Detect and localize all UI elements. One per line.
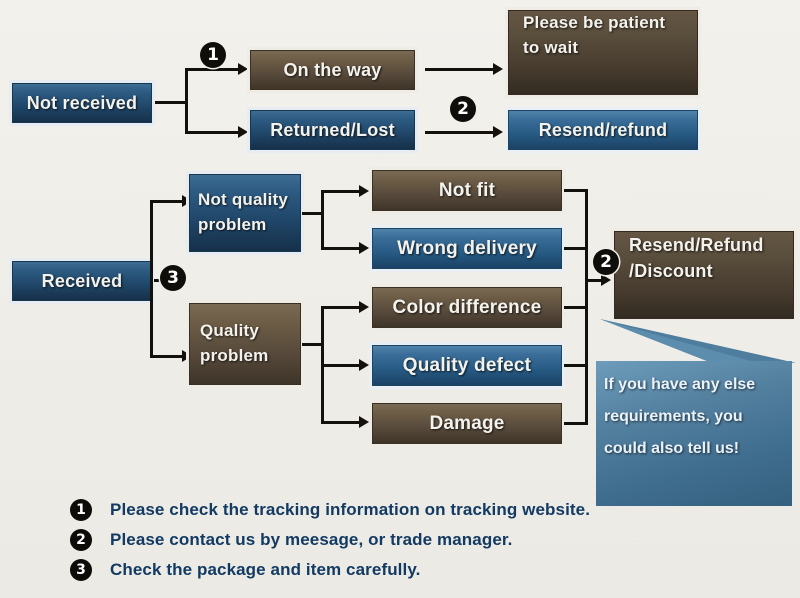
- node-not-quality-problem[interactable]: Not quality problem: [189, 174, 301, 252]
- badge-two-bottom: 2: [593, 249, 619, 275]
- speech-bubble-line2: requirements, you: [604, 408, 743, 425]
- connector-to-not-quality: [150, 200, 184, 203]
- arrow-to-not-fit: [359, 185, 369, 197]
- speech-bubble-body: If you have any else requirements, you c…: [596, 361, 792, 506]
- connector-returned-to-resend: [425, 131, 495, 134]
- flowchart-canvas: Not received 1 On the way Returned/Lost …: [0, 0, 800, 598]
- node-wrong-delivery-label: Wrong delivery: [397, 235, 537, 263]
- node-quality-defect[interactable]: Quality defect: [372, 345, 562, 386]
- legend-text-three: Check the package and item carefully.: [110, 560, 420, 580]
- node-received[interactable]: Received: [12, 261, 152, 301]
- legend-badge-one-label: 1: [76, 502, 86, 518]
- badge-three-label: 3: [167, 268, 179, 288]
- connector-to-not-fit: [321, 190, 361, 193]
- arrow-to-please-be-patient: [493, 63, 503, 75]
- connector-to-quality: [150, 355, 184, 358]
- legend-badge-three-label: 3: [76, 562, 86, 578]
- node-on-the-way[interactable]: On the way: [250, 50, 415, 90]
- arrow-to-returned-lost: [238, 126, 248, 138]
- speech-bubble: If you have any else requirements, you c…: [596, 319, 796, 485]
- node-on-the-way-label: On the way: [283, 57, 381, 83]
- node-not-quality-problem-line2: problem: [198, 213, 266, 238]
- badge-three: 3: [160, 265, 186, 291]
- connector-to-returned-lost: [185, 131, 240, 134]
- speech-bubble-line3: could also tell us!: [604, 440, 739, 457]
- badge-two-top-label: 2: [457, 99, 469, 119]
- node-returned-lost-label: Returned/Lost: [270, 117, 395, 143]
- connector-on-the-way-to-patient: [425, 68, 495, 71]
- node-quality-problem[interactable]: Quality problem: [189, 303, 301, 385]
- arrow-to-resend-refund-discount: [601, 274, 611, 286]
- connector-to-on-the-way: [185, 68, 240, 71]
- legend-badge-three: 3: [70, 559, 92, 581]
- node-resend-refund-label: Resend/refund: [539, 117, 668, 143]
- node-resend-refund-discount-line2: /Discount: [629, 258, 793, 284]
- badge-two-bottom-label: 2: [600, 252, 612, 272]
- node-damage[interactable]: Damage: [372, 403, 562, 444]
- node-quality-problem-line2: problem: [200, 344, 268, 369]
- node-not-quality-problem-line1: Not quality: [198, 188, 288, 213]
- legend-row: 3 Check the package and item carefully.: [70, 555, 790, 585]
- badge-one-top-label: 1: [207, 45, 219, 65]
- arrow-to-damage: [359, 416, 369, 428]
- arrow-to-on-the-way: [238, 63, 248, 75]
- connector-to-color-difference: [321, 306, 361, 309]
- connector-to-damage: [321, 421, 361, 424]
- legend-badge-two: 2: [70, 529, 92, 551]
- connector-not-received-split: [185, 68, 188, 134]
- connector-merge-bus: [585, 189, 588, 425]
- node-damage-label: Damage: [429, 410, 504, 438]
- speech-bubble-line1: If you have any else: [604, 376, 755, 393]
- legend-text-two: Please contact us by meesage, or trade m…: [110, 530, 513, 550]
- arrow-to-quality-defect: [359, 359, 369, 371]
- connector-to-wrong-delivery: [321, 247, 361, 250]
- node-please-be-patient-line1: Please be patient: [523, 11, 697, 36]
- connector-not-quality-split: [321, 190, 324, 250]
- node-not-received[interactable]: Not received: [12, 83, 152, 123]
- connector-not-received-out: [155, 101, 187, 104]
- node-received-label: Received: [42, 268, 123, 294]
- node-color-difference[interactable]: Color difference: [372, 287, 562, 328]
- legend-row: 1 Please check the tracking information …: [70, 495, 790, 525]
- node-quality-problem-line1: Quality: [200, 319, 259, 344]
- badge-two-top: 2: [450, 96, 476, 122]
- legend-row: 2 Please contact us by meesage, or trade…: [70, 525, 790, 555]
- legend: 1 Please check the tracking information …: [70, 495, 790, 585]
- node-resend-refund[interactable]: Resend/refund: [508, 110, 698, 150]
- node-not-fit[interactable]: Not fit: [372, 170, 562, 211]
- node-please-be-patient[interactable]: Please be patient to wait: [508, 10, 698, 95]
- arrow-to-color-difference: [359, 301, 369, 313]
- node-returned-lost[interactable]: Returned/Lost: [250, 110, 415, 150]
- node-not-received-label: Not received: [27, 90, 137, 116]
- node-color-difference-label: Color difference: [393, 294, 542, 322]
- node-resend-refund-discount-line1: Resend/Refund: [629, 232, 793, 258]
- connector-received-split: [150, 200, 153, 358]
- node-wrong-delivery[interactable]: Wrong delivery: [372, 228, 562, 269]
- node-quality-defect-label: Quality defect: [403, 352, 531, 380]
- badge-one-top: 1: [200, 42, 226, 68]
- legend-badge-one: 1: [70, 499, 92, 521]
- arrow-to-resend-refund: [493, 126, 503, 138]
- node-not-fit-label: Not fit: [439, 177, 495, 205]
- node-please-be-patient-line2: to wait: [523, 36, 697, 61]
- legend-text-one: Please check the tracking information on…: [110, 500, 590, 520]
- legend-badge-two-label: 2: [76, 532, 86, 548]
- arrow-to-wrong-delivery: [359, 242, 369, 254]
- node-resend-refund-discount[interactable]: Resend/Refund /Discount: [614, 231, 794, 319]
- connector-to-quality-defect: [321, 364, 361, 367]
